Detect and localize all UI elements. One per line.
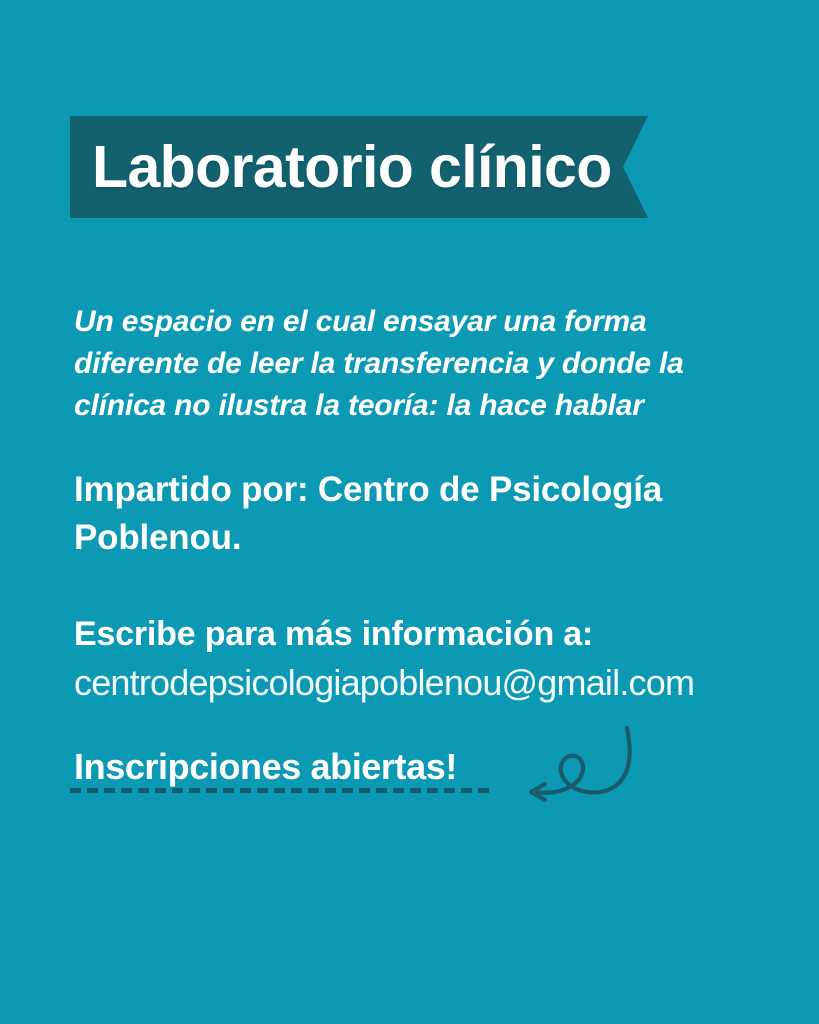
contact-email[interactable]: centrodepsicologiapoblenou@gmail.com xyxy=(74,660,694,706)
page-title: Laboratorio clínico xyxy=(92,116,612,218)
curly-loop-arrow-left-icon xyxy=(523,722,641,814)
contact-label: Escribe para más información a: xyxy=(74,612,593,656)
title-ribbon-banner: Laboratorio clínico xyxy=(70,116,648,218)
cta-dashed-underline xyxy=(70,788,494,793)
cta-group: Inscripciones abiertas! xyxy=(70,744,670,819)
lede-paragraph: Un espacio en el cual ensayar una forma … xyxy=(74,301,734,427)
poster-canvas: Laboratorio clínico Un espacio en el cua… xyxy=(0,0,819,1024)
cta-text: Inscripciones abiertas! xyxy=(74,744,457,790)
presenter-line: Impartido por: Centro de Psicología Pobl… xyxy=(74,466,754,562)
